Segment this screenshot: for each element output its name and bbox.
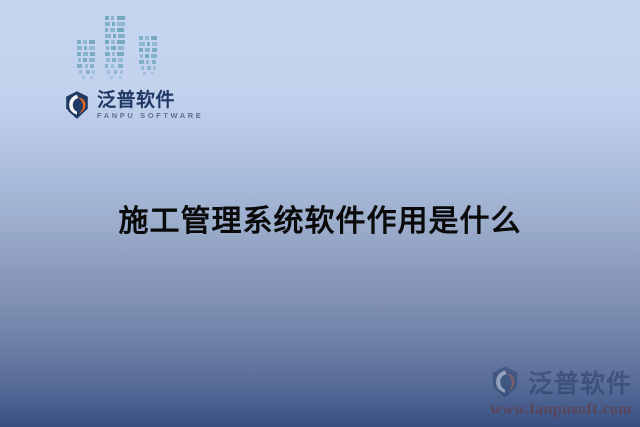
- brand-block: 泛普软件 FANPU SOFTWARE: [57, 12, 187, 126]
- slide-canvas: 泛普软件 FANPU SOFTWARE 施工管理系统软件作用是什么 泛普软件 w…: [0, 0, 640, 427]
- pixel-skyline-icon: [77, 12, 169, 84]
- watermark-brand-name: 泛普软件: [528, 364, 632, 400]
- watermark-logo-row: 泛普软件: [488, 364, 632, 400]
- watermark: 泛普软件 www.fanpusoft.com: [488, 364, 632, 419]
- watermark-url: www.fanpusoft.com: [490, 401, 632, 419]
- fanpu-logo-mark-icon: [62, 90, 92, 120]
- brand-name-cn: 泛普软件: [97, 91, 203, 110]
- page-title: 施工管理系统软件作用是什么: [0, 196, 640, 240]
- fanpu-logo-mark-icon: [488, 365, 522, 399]
- fanpu-logo-lockup: 泛普软件 FANPU SOFTWARE: [62, 90, 203, 120]
- brand-name-en: FANPU SOFTWARE: [97, 112, 203, 120]
- fanpu-logo-text: 泛普软件 FANPU SOFTWARE: [97, 91, 203, 120]
